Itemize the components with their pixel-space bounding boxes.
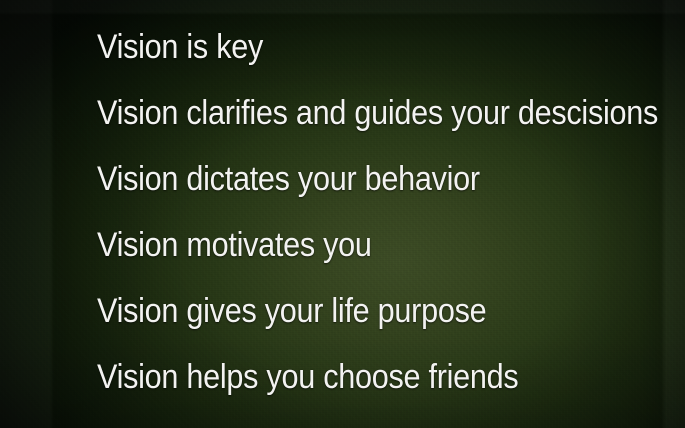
list-item-vision-is-key: Vision is key — [97, 30, 263, 64]
slide-canvas: Vision is key Vision clarifies and guide… — [0, 0, 685, 428]
bullet-list: Vision is key Vision clarifies and guide… — [97, 0, 657, 428]
list-item-vision-motivates: Vision motivates you — [97, 228, 372, 262]
list-item-vision-purpose: Vision gives your life purpose — [97, 294, 486, 328]
list-item-vision-dictates: Vision dictates your behavior — [97, 162, 480, 196]
list-item-vision-friends: Vision helps you choose friends — [97, 360, 518, 394]
list-item-vision-clarifies: Vision clarifies and guides your descisi… — [97, 96, 658, 130]
